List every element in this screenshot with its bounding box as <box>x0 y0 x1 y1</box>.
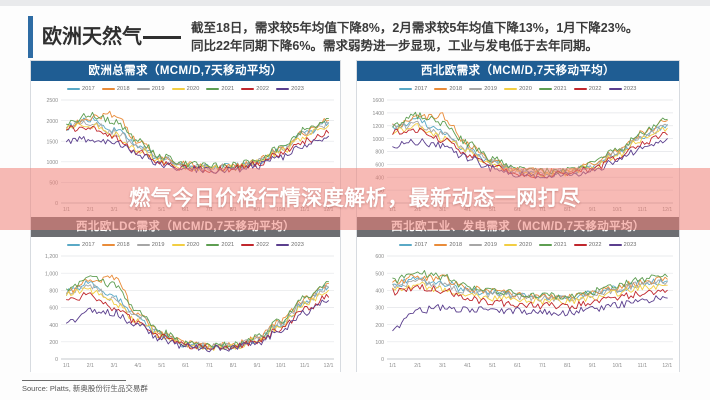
legend-swatch-2022 <box>241 244 254 247</box>
svg-text:1000: 1000 <box>372 137 384 143</box>
legend-swatch-2022 <box>574 88 587 91</box>
svg-text:1/1: 1/1 <box>63 363 70 369</box>
top-strip <box>0 0 710 6</box>
svg-text:1/1: 1/1 <box>389 207 396 213</box>
legend-item-2018: 2018 <box>434 242 462 248</box>
legend-item-2020: 2020 <box>172 86 200 92</box>
legend-label-2018: 2018 <box>117 86 130 92</box>
svg-text:4/1: 4/1 <box>464 363 471 369</box>
chart-legend-nw-eu-industry-power-demand: 2017201820192020202120222023 <box>357 237 679 252</box>
svg-text:600: 600 <box>375 254 384 260</box>
svg-text:1/1: 1/1 <box>63 207 70 213</box>
series-line-2018 <box>66 111 328 169</box>
header-accent-bar <box>28 16 33 58</box>
legend-item-2023: 2023 <box>276 86 304 92</box>
legend-label-2019: 2019 <box>484 86 497 92</box>
svg-text:2/1: 2/1 <box>87 363 94 369</box>
series-line-2022 <box>66 293 328 350</box>
svg-text:12/1: 12/1 <box>662 207 672 213</box>
svg-text:9/1: 9/1 <box>589 363 596 369</box>
svg-text:500: 500 <box>49 181 58 187</box>
legend-label-2023: 2023 <box>624 242 637 248</box>
svg-text:400: 400 <box>375 175 384 181</box>
svg-text:7/1: 7/1 <box>539 207 546 213</box>
legend-label-2018: 2018 <box>117 242 130 248</box>
series-line-2023 <box>393 296 668 331</box>
legend-label-2020: 2020 <box>187 242 200 248</box>
legend-swatch-2020 <box>504 244 517 247</box>
chart-title-nw-eu-demand: 西北欧需求（MCM/D,7天移动平均） <box>357 61 679 81</box>
svg-text:2/1: 2/1 <box>414 363 421 369</box>
svg-text:0: 0 <box>381 201 384 207</box>
legend-swatch-2018 <box>434 244 447 247</box>
svg-text:9/1: 9/1 <box>254 207 261 213</box>
svg-text:6/1: 6/1 <box>514 207 521 213</box>
legend-label-2021: 2021 <box>554 86 567 92</box>
legend-label-2022: 2022 <box>256 86 269 92</box>
legend-swatch-2023 <box>276 88 289 91</box>
legend-item-2017: 2017 <box>67 86 95 92</box>
plot-eu-total-demand: 050010001500200025001/12/13/14/15/16/17/… <box>31 96 340 217</box>
svg-text:200: 200 <box>49 340 58 346</box>
header-summary-line-2: 同比22年同期下降6%。需求弱势进一步显现，工业与发电低于去年同期。 <box>191 37 638 55</box>
header-summary: 截至18日，需求较5年均值下降8%，2月需求较5年均值下降13%，1月下降23%… <box>191 19 638 56</box>
svg-text:11/1: 11/1 <box>300 363 310 369</box>
chart-svg-nw-eu-industry-power-demand: 01002003004005006001/12/13/14/15/16/17/1… <box>357 252 679 373</box>
svg-text:6/1: 6/1 <box>514 363 521 369</box>
chart-legend-nw-eu-demand: 2017201820192020202120222023 <box>357 81 679 96</box>
svg-text:2000: 2000 <box>46 119 58 125</box>
svg-text:600: 600 <box>49 306 58 312</box>
legend-swatch-2020 <box>172 244 185 247</box>
legend-item-2018: 2018 <box>434 86 462 92</box>
legend-item-2022: 2022 <box>574 242 602 248</box>
right-chart-panel: 西北欧需求（MCM/D,7天移动平均） 20172018201920202021… <box>356 60 680 372</box>
legend-label-2022: 2022 <box>589 242 602 248</box>
legend-item-2022: 2022 <box>574 86 602 92</box>
chart-legend-eu-total-demand: 2017201820192020202120222023 <box>31 81 340 96</box>
svg-text:1500: 1500 <box>46 139 58 145</box>
legend-item-2021: 2021 <box>206 86 234 92</box>
plot-nw-eu-demand: 020040060080010001200140016001/12/13/14/… <box>357 96 679 217</box>
legend-label-2019: 2019 <box>484 242 497 248</box>
legend-swatch-2018 <box>434 88 447 91</box>
legend-swatch-2022 <box>241 88 254 91</box>
legend-item-2019: 2019 <box>469 242 497 248</box>
legend-item-2021: 2021 <box>539 86 567 92</box>
svg-text:400: 400 <box>49 323 58 329</box>
header-summary-line-1: 截至18日，需求较5年均值下降8%，2月需求较5年均值下降13%，1月下降23%… <box>191 19 638 37</box>
svg-text:1600: 1600 <box>372 98 384 104</box>
series-line-2020 <box>66 288 328 351</box>
chart-nw-eu-industry-power-demand: 西北欧工业、发电需求（MCM/D,7天移动平均） 201720182019202… <box>357 217 679 373</box>
legend-item-2023: 2023 <box>609 86 637 92</box>
legend-item-2023: 2023 <box>609 242 637 248</box>
legend-item-2020: 2020 <box>172 242 200 248</box>
chart-nw-eu-demand: 西北欧需求（MCM/D,7天移动平均） 20172018201920202021… <box>357 61 679 217</box>
svg-text:5/1: 5/1 <box>489 363 496 369</box>
legend-swatch-2020 <box>504 88 517 91</box>
svg-text:3/1: 3/1 <box>439 363 446 369</box>
legend-item-2017: 2017 <box>399 242 427 248</box>
legend-swatch-2023 <box>276 244 289 247</box>
legend-label-2018: 2018 <box>449 86 462 92</box>
svg-text:11/1: 11/1 <box>300 207 310 213</box>
infographic-root: 欧洲天然气 截至18日，需求较5年均值下降8%，2月需求较5年均值下降13%，1… <box>0 0 710 400</box>
page-title: 欧洲天然气 <box>42 27 181 47</box>
legend-item-2023: 2023 <box>276 242 304 248</box>
legend-item-2017: 2017 <box>67 242 95 248</box>
legend-item-2020: 2020 <box>504 86 532 92</box>
legend-label-2021: 2021 <box>221 242 234 248</box>
legend-label-2023: 2023 <box>624 86 637 92</box>
svg-text:2/1: 2/1 <box>87 207 94 213</box>
svg-text:800: 800 <box>49 289 58 295</box>
legend-label-2019: 2019 <box>152 86 165 92</box>
svg-text:5/1: 5/1 <box>158 363 165 369</box>
svg-text:5/1: 5/1 <box>158 207 165 213</box>
legend-swatch-2018 <box>102 244 115 247</box>
chart-legend-nw-eu-ldc-demand: 2017201820192020202120222023 <box>31 237 340 252</box>
series-line-2021 <box>66 276 328 349</box>
source-note: Source: Platts, 新奥股份衍生品交易群 <box>22 383 148 394</box>
svg-text:5/1: 5/1 <box>489 207 496 213</box>
header: 欧洲天然气 截至18日，需求较5年均值下降8%，2月需求较5年均值下降13%，1… <box>28 16 692 58</box>
svg-text:11/1: 11/1 <box>638 363 648 369</box>
legend-swatch-2023 <box>609 88 622 91</box>
chart-svg-eu-total-demand: 050010001500200025001/12/13/14/15/16/17/… <box>31 96 340 217</box>
svg-text:10/1: 10/1 <box>276 207 286 213</box>
svg-text:4/1: 4/1 <box>134 207 141 213</box>
legend-item-2022: 2022 <box>241 242 269 248</box>
chart-eu-total-demand: 欧洲总需求（MCM/D,7天移动平均） 20172018201920202021… <box>31 61 340 217</box>
chart-title-nw-eu-ldc-demand: 西北欧LDC需求（MCM/D,7天移动平均） <box>31 217 340 237</box>
svg-text:10/1: 10/1 <box>276 363 286 369</box>
svg-text:2500: 2500 <box>46 98 58 104</box>
legend-label-2017: 2017 <box>414 242 427 248</box>
legend-swatch-2019 <box>137 88 150 91</box>
legend-item-2019: 2019 <box>137 242 165 248</box>
legend-swatch-2019 <box>469 88 482 91</box>
svg-text:200: 200 <box>375 188 384 194</box>
svg-text:12/1: 12/1 <box>324 207 334 213</box>
legend-label-2017: 2017 <box>82 242 95 248</box>
legend-label-2022: 2022 <box>589 86 602 92</box>
legend-label-2021: 2021 <box>221 86 234 92</box>
legend-item-2022: 2022 <box>241 86 269 92</box>
legend-label-2022: 2022 <box>256 242 269 248</box>
svg-text:100: 100 <box>375 340 384 346</box>
legend-item-2017: 2017 <box>399 86 427 92</box>
plot-nw-eu-ldc-demand: 02004006008001,0001,2001/12/13/14/15/16/… <box>31 252 340 373</box>
chart-svg-nw-eu-ldc-demand: 02004006008001,0001,2001/12/13/14/15/16/… <box>31 252 340 373</box>
source-divider <box>22 380 126 381</box>
legend-item-2019: 2019 <box>469 86 497 92</box>
legend-label-2023: 2023 <box>291 242 304 248</box>
legend-label-2020: 2020 <box>519 242 532 248</box>
legend-swatch-2019 <box>469 244 482 247</box>
svg-text:3/1: 3/1 <box>111 207 118 213</box>
svg-text:8/1: 8/1 <box>564 207 571 213</box>
svg-text:3/1: 3/1 <box>111 363 118 369</box>
chart-title-nw-eu-industry-power-demand: 西北欧工业、发电需求（MCM/D,7天移动平均） <box>357 217 679 237</box>
legend-item-2021: 2021 <box>539 242 567 248</box>
legend-label-2019: 2019 <box>152 242 165 248</box>
legend-item-2019: 2019 <box>137 86 165 92</box>
svg-text:400: 400 <box>375 289 384 295</box>
legend-swatch-2017 <box>399 244 412 247</box>
svg-text:6/1: 6/1 <box>182 363 189 369</box>
legend-label-2017: 2017 <box>82 86 95 92</box>
svg-text:8/1: 8/1 <box>564 363 571 369</box>
svg-text:1,200: 1,200 <box>45 254 58 260</box>
svg-text:7/1: 7/1 <box>206 207 213 213</box>
legend-swatch-2021 <box>539 244 552 247</box>
svg-text:8/1: 8/1 <box>230 207 237 213</box>
legend-swatch-2019 <box>137 244 150 247</box>
svg-text:1,000: 1,000 <box>45 271 58 277</box>
legend-swatch-2021 <box>206 88 219 91</box>
chart-nw-eu-ldc-demand: 西北欧LDC需求（MCM/D,7天移动平均） 20172018201920202… <box>31 217 340 373</box>
legend-item-2018: 2018 <box>102 242 130 248</box>
svg-text:11/1: 11/1 <box>638 207 648 213</box>
legend-item-2018: 2018 <box>102 86 130 92</box>
svg-text:12/1: 12/1 <box>324 363 334 369</box>
legend-label-2021: 2021 <box>554 242 567 248</box>
svg-text:4/1: 4/1 <box>464 207 471 213</box>
svg-text:10/1: 10/1 <box>612 363 622 369</box>
svg-text:7/1: 7/1 <box>206 363 213 369</box>
chart-title-eu-total-demand: 欧洲总需求（MCM/D,7天移动平均） <box>31 61 340 81</box>
svg-text:0: 0 <box>55 201 58 207</box>
svg-text:800: 800 <box>375 150 384 156</box>
svg-text:1/1: 1/1 <box>389 363 396 369</box>
legend-swatch-2021 <box>539 88 552 91</box>
legend-label-2023: 2023 <box>291 86 304 92</box>
legend-swatch-2018 <box>102 88 115 91</box>
legend-swatch-2020 <box>172 88 185 91</box>
svg-text:9/1: 9/1 <box>589 207 596 213</box>
legend-label-2017: 2017 <box>414 86 427 92</box>
title-dash <box>143 36 181 39</box>
svg-text:8/1: 8/1 <box>230 363 237 369</box>
legend-swatch-2021 <box>206 244 219 247</box>
legend-label-2020: 2020 <box>187 86 200 92</box>
svg-text:1200: 1200 <box>372 124 384 130</box>
svg-text:3/1: 3/1 <box>439 207 446 213</box>
svg-text:1400: 1400 <box>372 111 384 117</box>
svg-text:0: 0 <box>381 357 384 363</box>
legend-swatch-2017 <box>399 88 412 91</box>
svg-text:600: 600 <box>375 163 384 169</box>
page-title-text: 欧洲天然气 <box>42 26 142 48</box>
svg-text:1000: 1000 <box>46 160 58 166</box>
svg-text:6/1: 6/1 <box>182 207 189 213</box>
legend-swatch-2017 <box>67 244 80 247</box>
svg-text:300: 300 <box>375 306 384 312</box>
legend-swatch-2023 <box>609 244 622 247</box>
svg-text:7/1: 7/1 <box>539 363 546 369</box>
svg-text:200: 200 <box>375 323 384 329</box>
legend-item-2020: 2020 <box>504 242 532 248</box>
legend-item-2021: 2021 <box>206 242 234 248</box>
legend-swatch-2017 <box>67 88 80 91</box>
legend-swatch-2022 <box>574 244 587 247</box>
svg-text:10/1: 10/1 <box>612 207 622 213</box>
svg-text:9/1: 9/1 <box>254 363 261 369</box>
chart-svg-nw-eu-demand: 020040060080010001200140016001/12/13/14/… <box>357 96 679 217</box>
svg-text:2/1: 2/1 <box>414 207 421 213</box>
svg-text:12/1: 12/1 <box>662 363 672 369</box>
legend-label-2018: 2018 <box>449 242 462 248</box>
svg-text:4/1: 4/1 <box>134 363 141 369</box>
svg-text:0: 0 <box>55 357 58 363</box>
plot-nw-eu-industry-power-demand: 01002003004005006001/12/13/14/15/16/17/1… <box>357 252 679 373</box>
svg-text:500: 500 <box>375 271 384 277</box>
left-chart-panel: 欧洲总需求（MCM/D,7天移动平均） 20172018201920202021… <box>30 60 341 372</box>
legend-label-2020: 2020 <box>519 86 532 92</box>
